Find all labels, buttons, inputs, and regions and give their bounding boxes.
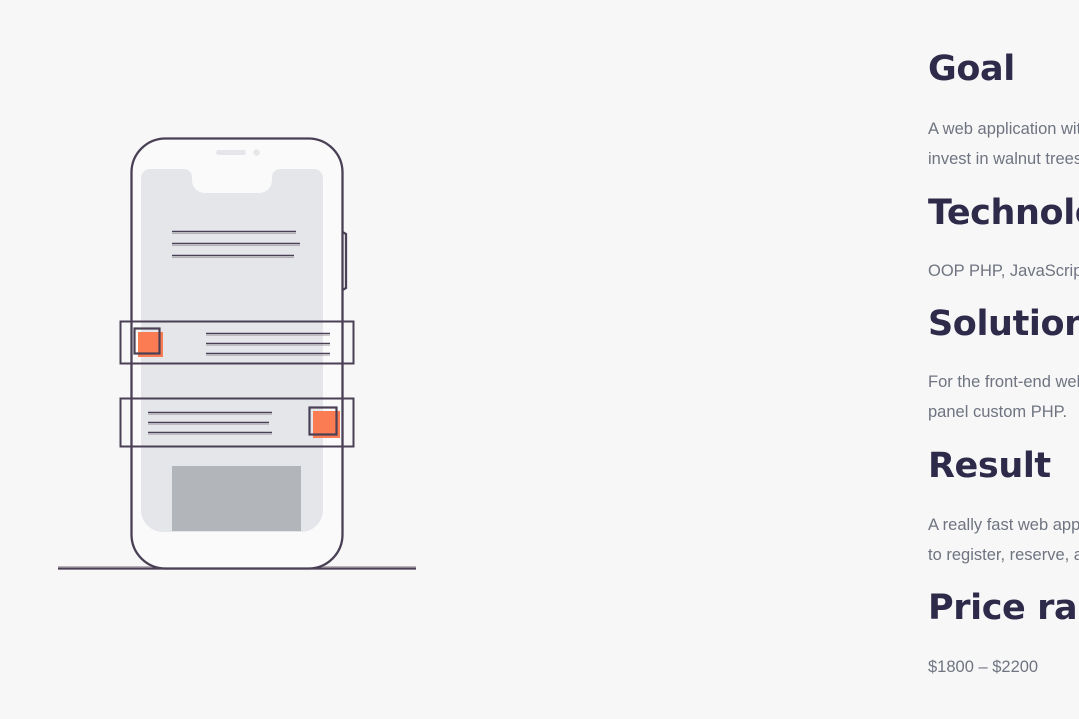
section-technologies-heading-wrap: Technologies <box>928 194 1079 233</box>
section-body-result: A really fast web application, optimized… <box>928 510 1079 570</box>
section-price-range-body-wrap: $1800 – $2200 <box>928 652 1079 682</box>
section-body-price-range: $1800 – $2200 <box>928 652 1079 682</box>
section-body-solutions: For the front-end website and blog syste… <box>928 367 1079 427</box>
section-body-technologies: OOP PHP, JavaScript, twig, SASS, HTML, C… <box>928 256 1079 286</box>
screen-image-placeholder <box>172 466 301 531</box>
case-study-panel: Goal A web application with blog system … <box>0 0 1079 719</box>
section-heading-technologies: Technologies <box>928 194 1079 233</box>
section-result-heading-wrap: Result <box>928 447 1079 486</box>
mobile-app-mockup-illustration <box>0 0 464 719</box>
section-solutions-heading-wrap: Solutions <box>928 305 1079 344</box>
section-solutions-body-wrap: For the front-end website and blog syste… <box>928 367 1079 427</box>
phone-camera-icon <box>253 149 259 155</box>
phone-speaker-icon <box>216 150 246 155</box>
section-body-goal: A web application with blog system where… <box>928 114 1079 174</box>
section-heading-solutions: Solutions <box>928 305 1079 344</box>
section-result-body-wrap: A really fast web application, optimized… <box>928 510 1079 570</box>
section-goal-heading-wrap: Goal <box>928 50 1079 89</box>
section-heading-result: Result <box>928 447 1079 486</box>
section-heading-price-range: Price range <box>928 589 1079 628</box>
section-goal-body-wrap: A web application with blog system where… <box>928 114 1079 174</box>
illustration-column <box>0 0 464 719</box>
section-heading-goal: Goal <box>928 50 1079 89</box>
section-technologies-body-wrap: OOP PHP, JavaScript, twig, SASS, HTML, C… <box>928 256 1079 286</box>
section-price-range-heading-wrap: Price range <box>928 589 1079 628</box>
